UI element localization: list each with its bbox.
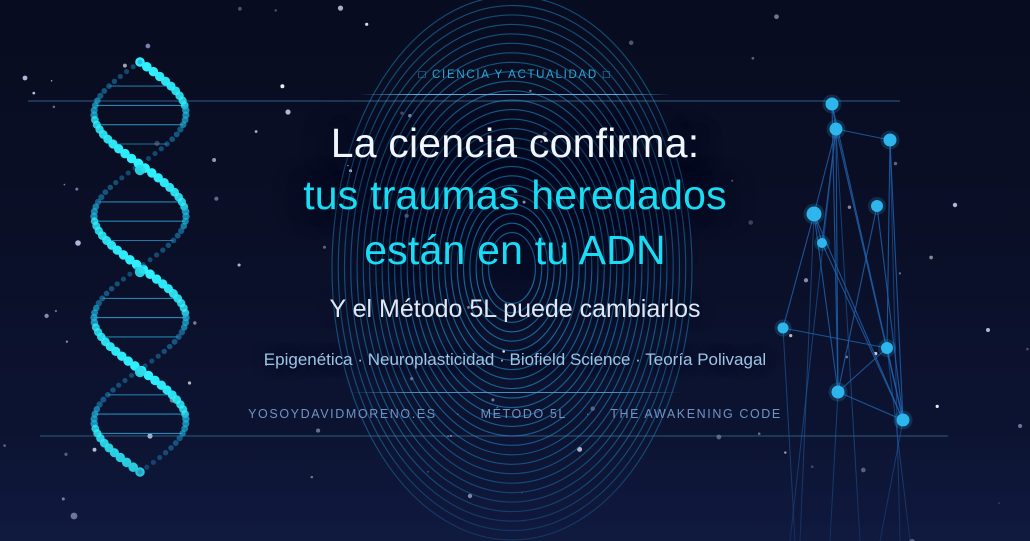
slide-canvas: □ CIENCIA Y ACTUALIDAD □ La ciencia conf… — [0, 0, 1030, 541]
constellation-network-graphic — [0, 0, 1030, 541]
